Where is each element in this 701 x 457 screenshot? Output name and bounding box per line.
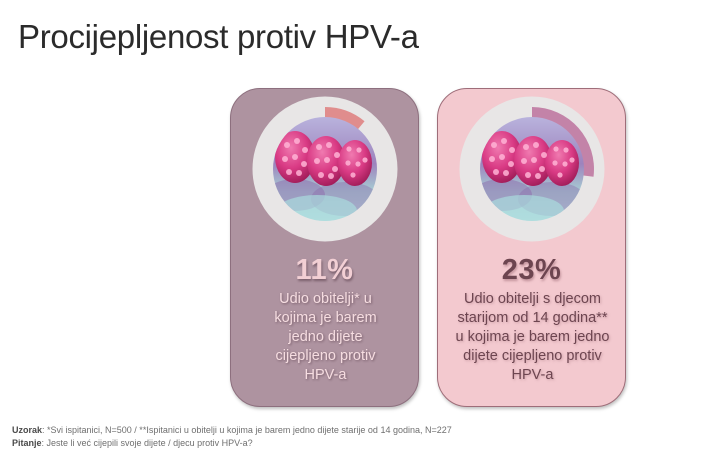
caption-line: HPV-a xyxy=(442,366,623,385)
footnote-question-label: Pitanje xyxy=(12,438,42,448)
footnote: Uzorak: *Svi ispitanici, N=500 / **Ispit… xyxy=(12,424,452,449)
donut-chart-svi-ispitanici xyxy=(252,96,398,242)
page-title: Procijepljenost protiv HPV-a xyxy=(18,17,419,57)
hpv-virus-illustration-left xyxy=(273,117,377,221)
caption-line: Udio obitelji s djecom xyxy=(442,290,623,309)
caption-line: u kojima je barem jedno xyxy=(442,328,623,347)
stat-value-left: 11% xyxy=(231,253,418,287)
caption-line: HPV-a xyxy=(235,366,416,385)
stat-caption-left: Udio obitelji* u kojima je barem jedno d… xyxy=(235,290,416,385)
hpv-virus-illustration-right xyxy=(480,117,584,221)
footnote-question-row: Pitanje: Jeste li već cijepili svoje dij… xyxy=(12,437,452,450)
stat-card-svi-ispitanici[interactable]: 11% Udio obitelji* u kojima je barem jed… xyxy=(230,88,419,407)
caption-line: starijom od 14 godina** xyxy=(442,309,623,328)
stat-card-djeca-starija-od-14[interactable]: 23% Udio obitelji s djecom starijom od 1… xyxy=(437,88,626,407)
caption-line: cijepljeno protiv xyxy=(235,347,416,366)
hpv-virus-photo-left xyxy=(273,117,377,221)
caption-line: Udio obitelji* u xyxy=(235,290,416,309)
footnote-sample-label: Uzorak xyxy=(12,425,42,435)
donut-chart-djeca-starija-od-14 xyxy=(459,96,605,242)
footnote-question-text: : Jeste li već cijepili svoje dijete / d… xyxy=(42,438,253,448)
stat-caption-right: Udio obitelji s djecom starijom od 14 go… xyxy=(442,290,623,385)
stat-value-right: 23% xyxy=(438,253,625,287)
caption-line: jedno dijete xyxy=(235,328,416,347)
hpv-virus-photo-right xyxy=(480,117,584,221)
cards-container: 11% Udio obitelji* u kojima je barem jed… xyxy=(0,88,701,410)
footnote-sample-text: : *Svi ispitanici, N=500 / **Ispitanici … xyxy=(42,425,452,435)
footnote-sample-row: Uzorak: *Svi ispitanici, N=500 / **Ispit… xyxy=(12,424,452,437)
caption-line: dijete cijepljeno protiv xyxy=(442,347,623,366)
caption-line: kojima je barem xyxy=(235,309,416,328)
